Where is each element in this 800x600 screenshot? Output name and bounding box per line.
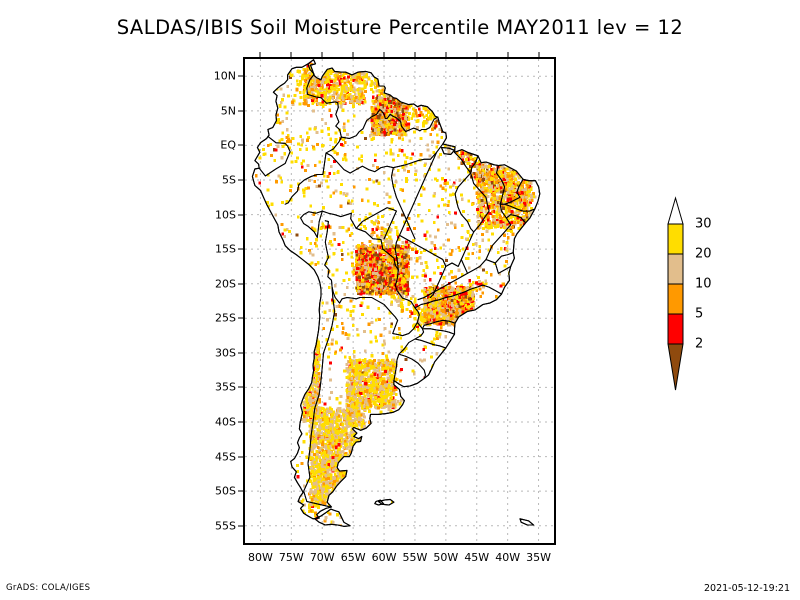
- x-tick-label-60w: 60W: [372, 551, 397, 564]
- y-tick-mark: [238, 110, 243, 111]
- y-tick-label-5n: 5N: [221, 104, 236, 117]
- y-tick-label-eq: EQ: [220, 139, 236, 152]
- x-tick-mark: [414, 52, 415, 57]
- y-tick-label-5s: 5S: [222, 174, 236, 187]
- x-tick-label-65w: 65W: [341, 551, 366, 564]
- y-tick-label-50s: 50S: [215, 485, 236, 498]
- x-tick-mark: [476, 52, 477, 57]
- y-tick-mark: [238, 145, 243, 146]
- y-tick-mark: [238, 180, 243, 181]
- y-tick-label-55s: 55S: [215, 519, 236, 532]
- y-tick-mark: [238, 283, 243, 284]
- south-america-map: [245, 59, 554, 543]
- y-tick-mark: [238, 318, 243, 319]
- map-plot-area: 10N5NEQ5S10S15S20S25S30S35S40S45S50S55S …: [243, 57, 556, 545]
- y-tick-label-10n: 10N: [214, 70, 236, 83]
- x-tick-mark: [384, 52, 385, 57]
- y-tick-label-20s: 20S: [215, 277, 236, 290]
- x-tick-mark: [291, 52, 292, 57]
- y-tick-mark: [238, 387, 243, 388]
- x-tick-label-40w: 40W: [495, 551, 520, 564]
- y-tick-label-45s: 45S: [215, 450, 236, 463]
- footer-source-label: GrADS: COLA/IGES: [6, 583, 90, 593]
- y-tick-mark: [238, 525, 243, 526]
- y-tick-mark: [238, 214, 243, 215]
- x-tick-mark: [507, 52, 508, 57]
- colorbar-label-10: 10: [695, 277, 712, 292]
- y-tick-mark: [238, 352, 243, 353]
- x-tick-mark: [322, 52, 323, 57]
- colorbar-label-30: 30: [695, 217, 712, 232]
- grads-plot-window: SALDAS/IBIS Soil Moisture Percentile MAY…: [0, 0, 800, 600]
- x-tick-label-70w: 70W: [310, 551, 335, 564]
- y-tick-mark: [238, 491, 243, 492]
- x-tick-mark: [538, 52, 539, 57]
- colorbar-swatches: [665, 196, 689, 401]
- x-tick-mark: [353, 52, 354, 57]
- page-title: SALDAS/IBIS Soil Moisture Percentile MAY…: [0, 16, 800, 39]
- footer-timestamp: 2021-05-12-19:21: [704, 583, 790, 594]
- y-tick-label-35s: 35S: [215, 381, 236, 394]
- y-tick-label-30s: 30S: [215, 346, 236, 359]
- x-tick-label-45w: 45W: [464, 551, 489, 564]
- colorbar: 30201052: [665, 196, 689, 401]
- x-tick-label-50w: 50W: [433, 551, 458, 564]
- x-tick-label-80w: 80W: [248, 551, 273, 564]
- y-tick-label-25s: 25S: [215, 312, 236, 325]
- colorbar-label-20: 20: [695, 247, 712, 262]
- x-tick-mark: [260, 52, 261, 57]
- colorbar-label-5: 5: [695, 307, 703, 322]
- x-tick-label-75w: 75W: [279, 551, 304, 564]
- x-tick-label-55w: 55W: [403, 551, 428, 564]
- x-tick-label-35w: 35W: [526, 551, 551, 564]
- y-tick-label-10s: 10S: [215, 208, 236, 221]
- y-tick-mark: [238, 456, 243, 457]
- y-tick-label-15s: 15S: [215, 243, 236, 256]
- y-tick-mark: [238, 76, 243, 77]
- colorbar-label-2: 2: [695, 337, 703, 352]
- y-tick-mark: [238, 249, 243, 250]
- y-tick-mark: [238, 422, 243, 423]
- x-tick-mark: [445, 52, 446, 57]
- y-tick-label-40s: 40S: [215, 416, 236, 429]
